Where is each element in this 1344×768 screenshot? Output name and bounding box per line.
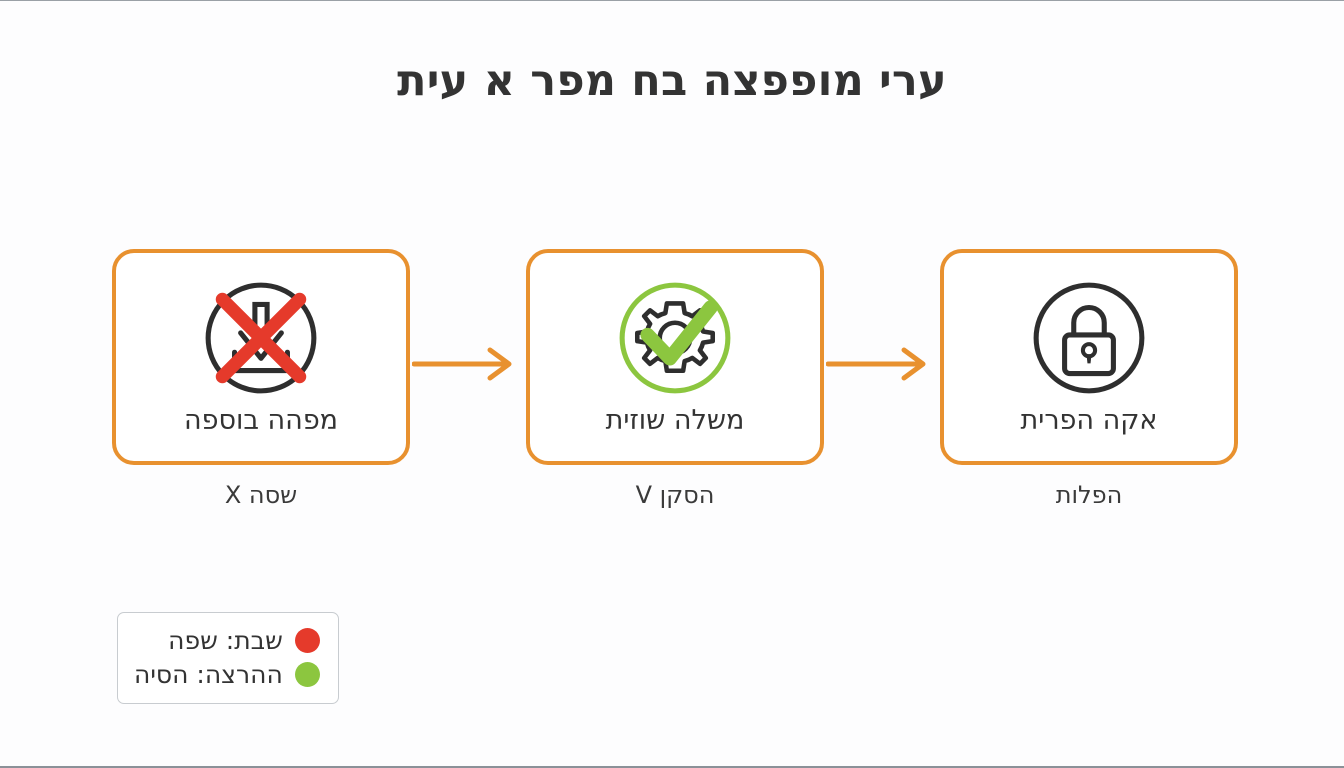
arrow-right-icon-1 [412, 345, 522, 383]
legend-item-label: שבת: שפה [168, 626, 283, 655]
page-title: ערי מופפצה בח מפר א עית [0, 56, 1344, 106]
legend-item-label: ההרצה: הסיה [134, 660, 283, 689]
step-caption-1: שסה X [112, 481, 410, 509]
green-dot-icon [295, 662, 320, 687]
process-step-label: אקה הפרית [1021, 405, 1158, 436]
process-step-1[interactable]: מפהה בוספה [112, 249, 410, 465]
legend-item: ההרצה: הסיה [134, 657, 320, 691]
legend-item: שבת: שפה [134, 623, 320, 657]
step-caption-3: הפלות [940, 481, 1238, 509]
process-step-label: מפהה בוספה [184, 405, 338, 436]
gear-check-icon [614, 277, 736, 399]
process-step-label: משלה שוזית [606, 405, 745, 436]
process-flow: מפהה בוספה משלה שוזית [112, 249, 1238, 469]
red-dot-icon [295, 628, 320, 653]
arrow-right-icon-2 [826, 345, 936, 383]
process-step-2[interactable]: משלה שוזית [526, 249, 824, 465]
lock-icon [1028, 277, 1150, 399]
step-caption-2: הסקן V [526, 481, 824, 509]
step-captions: שסה X הסקן V הפלות [112, 481, 1238, 521]
download-blocked-icon [200, 277, 322, 399]
process-step-3[interactable]: אקה הפרית [940, 249, 1238, 465]
slide-canvas: ערי מופפצה בח מפר א עית מפהה בוספה [0, 0, 1344, 768]
legend: שבת: שפה ההרצה: הסיה [117, 612, 339, 704]
